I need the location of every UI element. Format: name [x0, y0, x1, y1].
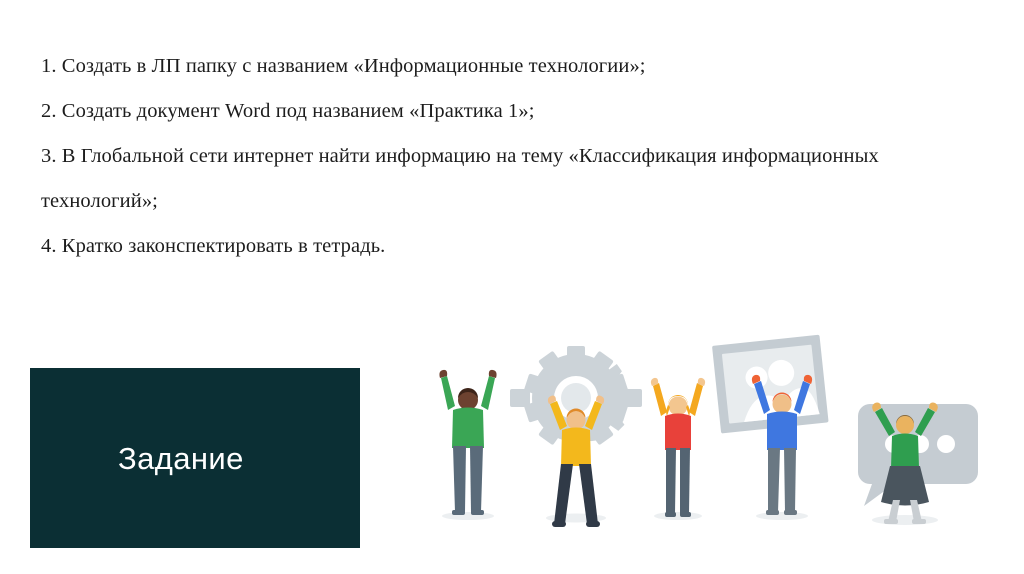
task-line-1: 1. Создать в ЛП папку с названием «Инфор…: [41, 44, 971, 89]
figure-green-man: [439, 370, 496, 515]
task-line-4: 4. Кратко законспектировать в тетрадь.: [41, 224, 971, 269]
illustration-people-celebrating: [420, 326, 1024, 574]
task-list: 1. Создать в ЛП папку с названием «Инфор…: [41, 44, 971, 269]
task-line-3: 3. В Глобальной сети интернет найти инфо…: [41, 134, 971, 224]
task-panel-label: Задание: [118, 443, 244, 474]
figure-red-woman: [651, 378, 705, 517]
figure-yellow-man: [548, 396, 604, 527]
task-panel: Задание: [30, 368, 360, 548]
figure-blue-man: [752, 375, 812, 515]
task-line-2: 2. Создать документ Word под названием «…: [41, 89, 971, 134]
